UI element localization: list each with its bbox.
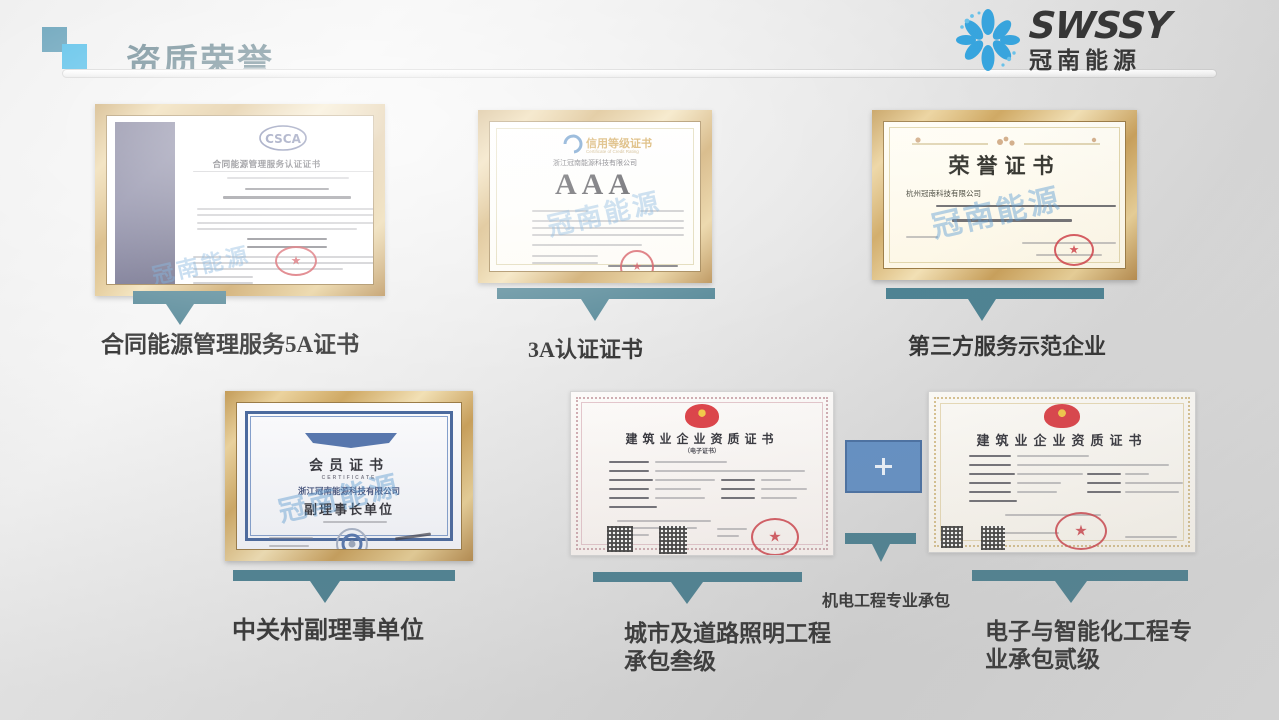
brand-text: SWSSY 冠南能源 [1029,7,1224,73]
certificate-document-cert-third-party: 荣誉证书 杭州冠南科技有限公司 冠南能源 [884,122,1125,268]
qr-code-icon-cert-electronic-1 [941,526,963,548]
caption-arrow-extra [845,533,916,562]
red-seal-cert-5a [275,246,317,276]
caption-cert-5a: 合同能源管理服务5A证书 [101,331,359,359]
page-title: 资质荣誉 [126,42,274,84]
certificate-subtitle-cert-3a: Certificate of Credit Rating [586,149,639,154]
svg-text:CSCA: CSCA [265,132,301,146]
caption-cert-third-party: 第三方服务示范企业 [908,334,1106,361]
qr-code-icon-cert-electronic-2 [981,526,1005,550]
credit-rating-emblem-icon [562,134,584,154]
caption-arrow-cert-5a [133,291,226,325]
certificate-award-cert-member: 副理事长单位 [304,499,394,518]
brand-name: SWSSY [1028,7,1226,46]
certificate-image-cert-3a[interactable]: 信用等级证书 Certificate of Credit Rating 浙江冠南… [478,110,712,283]
certificate-image-cert-member[interactable]: 会员证书 CERTIFICATE 浙江冠南能源科技有限公司 副理事长单位 冠南能… [225,391,473,561]
plus-icon [875,458,892,475]
caption-arrow-cert-lighting [593,572,802,604]
caption-cert-electronic: 电子与智能化工程专业承包贰级 [985,618,1205,674]
embossed-ring-seal-cert-member [335,527,369,549]
caption-cert-lighting: 城市及道路照明工程承包叁级 [624,620,839,676]
certificate-document-cert-member: 会员证书 CERTIFICATE 浙江冠南能源科技有限公司 副理事长单位 冠南能… [237,403,461,549]
certificate-company-cert-3a: 浙江冠南能源科技有限公司 [553,158,637,168]
caption-arrow-cert-electronic [972,570,1188,603]
caption-arrow-cert-3a [497,288,715,321]
certificate-document-cert-electronic: 建筑业企业资质证书 [929,392,1195,552]
csca-logo-icon: CSCA [259,124,307,152]
caption-extra: 机电工程专业承包 [822,592,950,612]
water-droplet-flower-icon [955,8,1021,72]
certificate-grade-cert-3a: AAA [555,168,635,202]
qr-code-icon-cert-lighting-2 [659,526,687,554]
caption-cert-member: 中关村副理事单位 [232,617,424,646]
certificate-subtitle-cert-member: CERTIFICATE [322,475,377,481]
certificate-company-cert-member: 浙江冠南能源科技有限公司 [298,485,400,497]
certificate-image-cert-electronic[interactable]: 建筑业企业资质证书 [928,391,1196,553]
certificate-image-cert-third-party[interactable]: 荣誉证书 杭州冠南科技有限公司 冠南能源 [872,110,1137,280]
red-seal-cert-lighting [751,518,799,555]
certificate-title-cert-member: 会员证书 [309,455,389,475]
slide-root: 资质荣誉 SWSSY 冠南能源 [0,0,1279,720]
caption-arrow-cert-third-party [886,288,1104,321]
certificate-document-cert-5a: CSCA 合同能源管理服务认证证书 冠南能源 [107,116,373,284]
national-emblem-icon-cert-electronic [1044,404,1080,428]
national-emblem-icon-cert-lighting [685,404,719,428]
certificate-subtitle-cert-lighting: （电子证书） [684,446,720,455]
ribbon-banner-icon [305,433,397,449]
red-seal-cert-electronic [1055,512,1107,550]
certificate-title-cert-lighting: 建筑业企业资质证书 [625,430,778,447]
caption-arrow-cert-member [233,570,455,603]
brand-subtitle: 冠南能源 [1029,47,1224,73]
brand-logo: SWSSY 冠南能源 [955,6,1225,74]
expand-plus-button[interactable] [845,440,922,493]
header-accent-square-light [62,44,87,69]
qr-code-icon-cert-lighting-1 [607,526,633,552]
certificate-title-cert-third-party: 荣誉证书 [949,150,1061,180]
certificate-company-cert-third-party: 杭州冠南科技有限公司 [906,188,981,199]
certificate-image-cert-5a[interactable]: CSCA 合同能源管理服务认证证书 冠南能源 [95,104,385,296]
certificate-title-cert-5a: 合同能源管理服务认证证书 [213,158,321,170]
certificate-image-cert-lighting[interactable]: 建筑业企业资质证书 （电子证书） [570,391,834,556]
certificate-document-cert-3a: 信用等级证书 Certificate of Credit Rating 浙江冠南… [490,122,700,271]
red-seal-cert-third-party [1054,234,1094,266]
floral-divider-icon [908,134,1104,150]
certificate-title-cert-electronic: 建筑业企业资质证书 [976,430,1147,449]
certificate-spine [115,122,175,284]
certificate-document-cert-lighting: 建筑业企业资质证书 （电子证书） [571,392,833,555]
caption-cert-3a: 3A认证证书 [528,337,643,364]
